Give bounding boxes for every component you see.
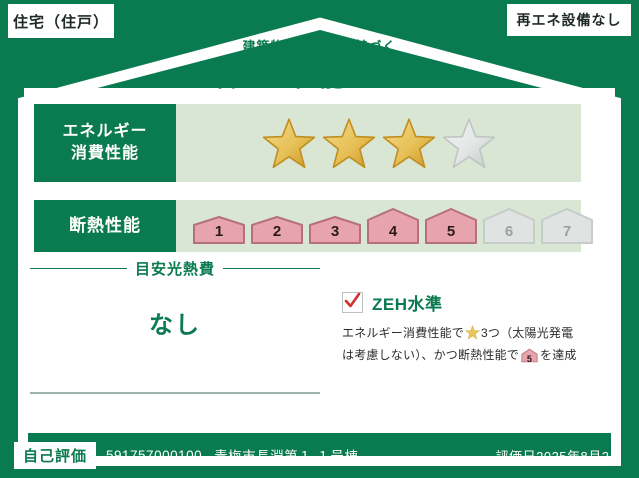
insulation-grade-7: 7 bbox=[540, 207, 594, 245]
tag-renewable-equipment: 再エネ設備なし bbox=[507, 4, 631, 36]
energy-performance-row: エネルギー 消費性能 bbox=[34, 104, 581, 182]
insulation-grade-1: 1 bbox=[192, 215, 246, 245]
insulation-grade-value: 5 bbox=[424, 223, 478, 240]
insulation-performance-row: 断熱性能 1234567 bbox=[34, 200, 581, 252]
zeh-description: エネルギー消費性能で 3つ（太陽光発電 は考慮しない）、かつ断熱性能で 5を達成 bbox=[342, 324, 604, 368]
evaluation-date: 評価日2025年8月2日 bbox=[496, 446, 623, 465]
utility-cost-heading: 目安光熱費 bbox=[30, 258, 320, 279]
self-evaluation-badge: 自己評価 bbox=[14, 442, 96, 469]
insulation-grade-value: 3 bbox=[308, 223, 362, 240]
inline-grade-value: 5 bbox=[521, 353, 538, 367]
zeh-checkbox[interactable] bbox=[342, 292, 363, 313]
insulation-performance-label: 断熱性能 bbox=[34, 200, 176, 252]
zeh-title: ZEH水準 bbox=[372, 290, 443, 315]
insulation-grade-scale: 1234567 bbox=[192, 207, 594, 245]
cost-heading-text: 目安光熱費 bbox=[135, 258, 215, 279]
zeh-heading: ZEH水準 bbox=[342, 290, 604, 315]
insulation-grade-5: 5 bbox=[424, 207, 478, 245]
energy-performance-value bbox=[176, 104, 581, 182]
title-block: 建築物省エネ法に基づく 省エネ性能ラベル bbox=[0, 36, 639, 94]
energy-label-line1: エネルギー bbox=[62, 121, 147, 143]
energy-performance-label: エネルギー 消費性能 bbox=[34, 104, 176, 182]
star-empty-icon bbox=[442, 116, 496, 170]
zeh-desc-part1: エネルギー消費性能で bbox=[342, 326, 464, 340]
zeh-block: ZEH水準 エネルギー消費性能で 3つ（太陽光発電 は考慮しない）、かつ断熱性能… bbox=[342, 290, 604, 368]
insulation-grade-value: 6 bbox=[482, 223, 536, 240]
insulation-grade-3: 3 bbox=[308, 215, 362, 245]
star-filled-icon bbox=[322, 116, 376, 170]
star-filled-icon bbox=[382, 116, 436, 170]
star-filled-icon bbox=[262, 116, 316, 170]
insulation-performance-value: 1234567 bbox=[176, 200, 581, 252]
title-subtitle: 建築物省エネ法に基づく bbox=[0, 36, 639, 55]
energy-label-line2: 消費性能 bbox=[71, 143, 139, 165]
insulation-grade-4: 4 bbox=[366, 207, 420, 245]
insulation-grade-value: 1 bbox=[192, 223, 246, 240]
cost-rule-right bbox=[223, 268, 320, 269]
insulation-grade-2: 2 bbox=[250, 215, 304, 245]
page-title: 省エネ性能ラベル bbox=[0, 58, 639, 94]
insulation-grade-value: 4 bbox=[366, 223, 420, 240]
cost-rule-left bbox=[30, 268, 127, 269]
footer-bar: 自己評価 591757000100 青梅市長淵第１ １号棟 評価日2025年8月… bbox=[0, 432, 639, 478]
check-icon bbox=[344, 292, 361, 312]
insulation-grade-6: 6 bbox=[482, 207, 536, 245]
label-root: 住宅（住戸） 再エネ設備なし 建築物省エネ法に基づく 省エネ性能ラベル エネルギ… bbox=[0, 0, 639, 478]
tag-building-type: 住宅（住戸） bbox=[8, 4, 114, 38]
zeh-desc-part4: を達成 bbox=[540, 348, 577, 362]
cost-bottom-divider bbox=[30, 392, 320, 394]
inline-grade-badge: 5 bbox=[521, 348, 538, 369]
certificate-id: 591757000100 bbox=[106, 448, 202, 463]
property-address: 青梅市長淵第１ １号棟 bbox=[214, 445, 358, 465]
zeh-desc-part3: は考慮しない）、かつ断熱性能で bbox=[342, 348, 519, 362]
insulation-grade-value: 7 bbox=[540, 223, 594, 240]
insulation-grade-value: 2 bbox=[250, 223, 304, 240]
inline-star-icon bbox=[465, 325, 480, 346]
utility-cost-value: なし bbox=[30, 305, 320, 340]
zeh-desc-part2: 3つ（太陽光発電 bbox=[481, 326, 573, 340]
star-rating bbox=[262, 116, 496, 170]
